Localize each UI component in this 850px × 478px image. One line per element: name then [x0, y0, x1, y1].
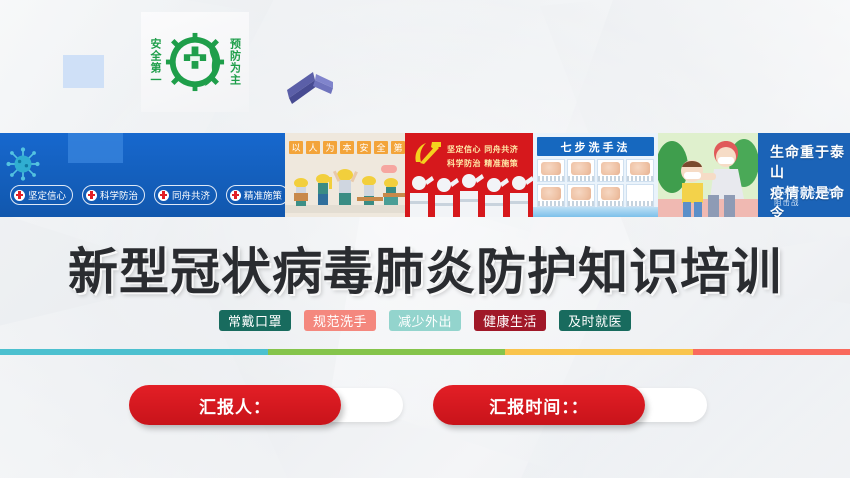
keyword-tag[interactable]: 健康生活	[474, 310, 546, 331]
handwashing-step	[597, 159, 625, 182]
construction-workers-illustration	[285, 161, 405, 213]
construction-safety-poster: 以 人 为 本 安 全 第 一	[285, 133, 405, 217]
handwashing-step	[537, 184, 565, 207]
handwashing-step	[537, 159, 565, 182]
handwashing-step	[597, 184, 625, 207]
logo-left-text: 安全第一	[149, 38, 161, 86]
medical-staff-illustration	[405, 171, 533, 217]
party-medics-poster: 坚定信心 同舟共济 科学防治 精准施策	[405, 133, 533, 217]
handwashing-poster: 七步洗手法	[533, 133, 658, 217]
keyword-tag[interactable]: 减少外出	[389, 310, 461, 331]
coronavirus-icon	[6, 147, 40, 181]
headline-char: 以	[289, 141, 303, 154]
logo-right-text: 预防为主	[229, 38, 241, 86]
slogan-pill-group: 坚定信心 科学防治 同舟共济 精准施策	[10, 185, 289, 205]
slogan-subtitle: 坚决打赢疫情防控阻击战	[774, 186, 850, 208]
banner-blue-panel: 坚定信心 科学防治 同舟共济 精准施策	[0, 133, 285, 217]
red-cross-icon	[158, 190, 169, 201]
color-stripe	[0, 349, 850, 355]
presenter-label: 汇报人：	[129, 385, 341, 425]
report-date-label: 汇报时间：：	[433, 385, 645, 425]
red-cross-icon	[14, 190, 25, 201]
epidemic-slogan-poster: 生命重于泰山 疫情就是命令 防控就是责任 坚决打赢疫情防控阻击战	[758, 133, 850, 217]
slogan-pill[interactable]: 科学防治	[82, 185, 145, 205]
handwashing-steps-grid	[537, 159, 654, 207]
purple-3d-chevron-arrow	[285, 62, 337, 106]
presenter-field[interactable]: 汇报人：	[133, 388, 403, 422]
headline-char: 人	[306, 141, 320, 154]
handwashing-notes	[626, 184, 654, 207]
slogan-pill-label: 坚定信心	[28, 188, 66, 202]
poster-line-2: 科学防治 精准施策	[447, 157, 518, 171]
slogan-pill[interactable]: 坚定信心	[10, 185, 73, 205]
stripe-segment-teal	[0, 349, 268, 355]
keyword-tag[interactable]: 及时就医	[559, 310, 631, 331]
parent-child-mask-illustration	[658, 133, 758, 217]
poster-text-block: 坚定信心 同舟共济 科学防治 精准施策	[447, 143, 518, 170]
slogan-pill-label: 同舟共济	[172, 188, 210, 202]
handwashing-heading: 七步洗手法	[537, 137, 654, 156]
headline-char: 安	[357, 141, 371, 154]
keyword-tag-row: 常戴口罩 规范洗手 减少外出 健康生活 及时就医	[0, 310, 850, 331]
headline-char: 本	[340, 141, 354, 154]
keyword-tag[interactable]: 常戴口罩	[219, 310, 291, 331]
poster-line-1: 坚定信心 同舟共济	[447, 143, 518, 157]
red-cross-icon	[230, 190, 241, 201]
slogan-line-1: 生命重于泰山	[770, 143, 850, 184]
slogan-pill[interactable]: 同舟共济	[154, 185, 217, 205]
banner-highlight-block	[68, 133, 123, 163]
headline-char: 第	[391, 141, 405, 154]
mask-illustration-poster	[658, 133, 758, 217]
safety-cross-gear-wheat-emblem	[164, 31, 226, 93]
stripe-segment-red	[693, 349, 850, 355]
handwashing-step	[567, 159, 595, 182]
headline-char: 全	[374, 141, 388, 154]
stripe-segment-green	[268, 349, 505, 355]
hammer-sickle-icon	[410, 138, 444, 168]
keyword-tag[interactable]: 规范洗手	[304, 310, 376, 331]
headline-char: 为	[323, 141, 337, 154]
slogan-pill[interactable]: 精准施策	[226, 185, 289, 205]
handwashing-step	[626, 159, 654, 182]
stripe-segment-yellow	[505, 349, 693, 355]
slogan-pill-label: 精准施策	[244, 188, 282, 202]
poster-headline: 以 人 为 本 安 全 第 一	[289, 141, 405, 154]
presentation-slide: 安全第一 预防为主	[0, 0, 850, 478]
poster-banner-strip: 坚定信心 科学防治 同舟共济 精准施策 以 人	[0, 133, 850, 217]
red-cross-icon	[86, 190, 97, 201]
page-title: 新型冠状病毒肺炎防护知识培训	[0, 232, 850, 304]
blue-square-shape	[63, 55, 104, 88]
handwashing-step	[567, 184, 595, 207]
report-date-field[interactable]: 汇报时间：：	[437, 388, 707, 422]
poster-wave-decoration	[533, 207, 658, 217]
safety-logo: 安全第一 预防为主	[141, 12, 249, 112]
slogan-pill-label: 科学防治	[100, 188, 138, 202]
